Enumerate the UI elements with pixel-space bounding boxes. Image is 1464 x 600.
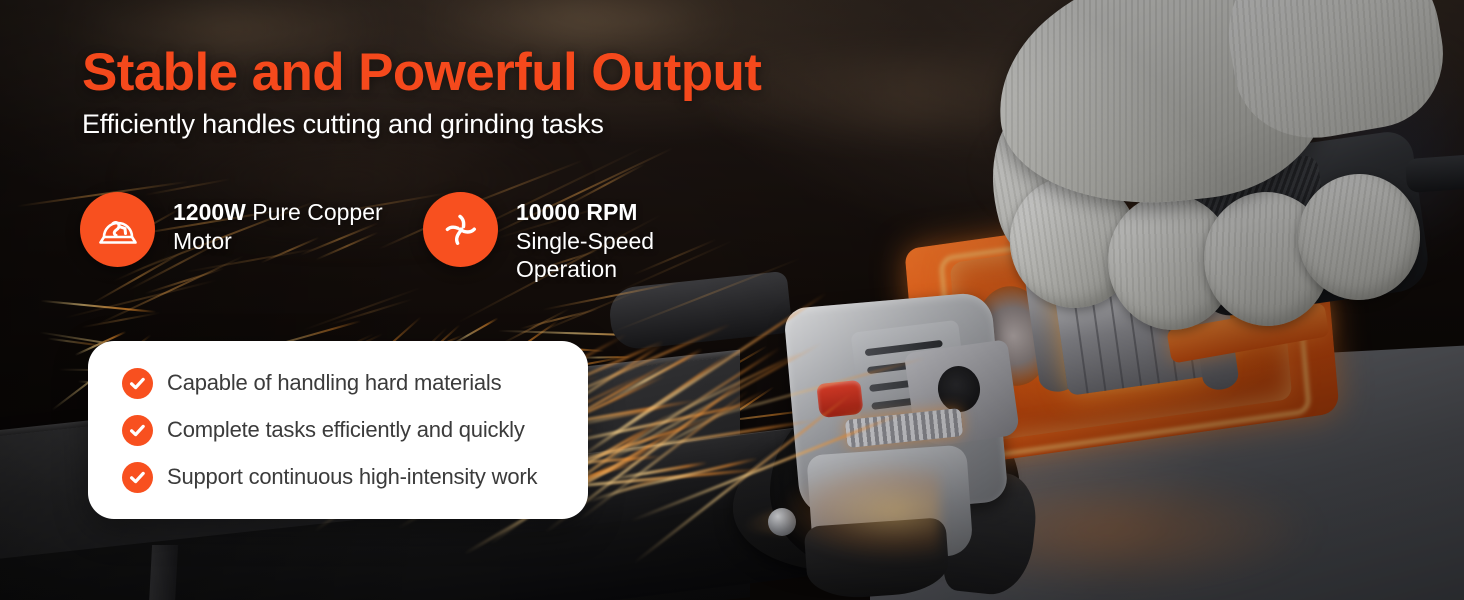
check-icon <box>122 462 153 493</box>
checklist-item: Complete tasks efficiently and quickly <box>122 415 554 446</box>
checklist-label: Support continuous high-intensity work <box>167 464 537 490</box>
product-feature-banner: Stable and Powerful Output Efficiently h… <box>0 0 1464 600</box>
check-icon <box>122 415 153 446</box>
headline: Stable and Powerful Output <box>82 42 761 103</box>
spec-unit-rpm: Single-Speed Operation <box>516 228 654 283</box>
checklist-label: Capable of handling hard materials <box>167 370 501 396</box>
spec-badge-motor: 1200W Pure Copper Motor <box>80 192 383 267</box>
subheadline: Efficiently handles cutting and grinding… <box>82 109 604 140</box>
motor-icon <box>80 192 155 267</box>
checklist-label: Complete tasks efficiently and quickly <box>167 417 525 443</box>
fan-rotor-icon <box>423 192 498 267</box>
banner-content: Stable and Powerful Output Efficiently h… <box>0 0 1464 600</box>
spec-badge-list: 1200W Pure Copper Motor 10000 RPM Single… <box>80 192 726 284</box>
spec-value-motor: 1200W <box>173 199 246 225</box>
spec-badge-rpm: 10000 RPM Single-Speed Operation <box>423 192 726 284</box>
spec-label-motor: 1200W Pure Copper Motor <box>173 192 383 255</box>
spec-label-rpm: 10000 RPM Single-Speed Operation <box>516 192 726 284</box>
feature-checklist-card: Capable of handling hard materials Compl… <box>88 341 588 519</box>
check-icon <box>122 368 153 399</box>
checklist-item: Capable of handling hard materials <box>122 368 554 399</box>
spec-value-rpm: 10000 RPM <box>516 199 637 225</box>
checklist-item: Support continuous high-intensity work <box>122 462 554 493</box>
